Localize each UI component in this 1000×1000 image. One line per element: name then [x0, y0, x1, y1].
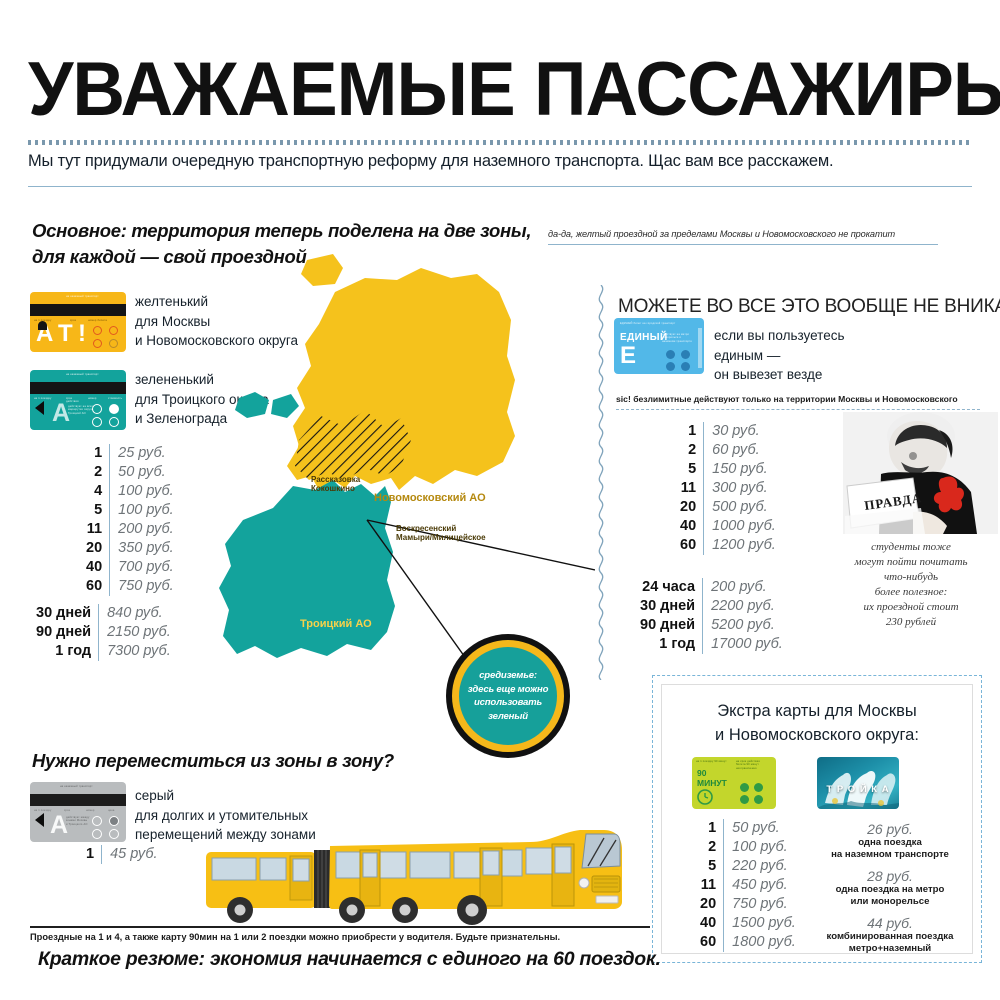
qty: 2 [700, 838, 724, 857]
table-row: 90 дней5200 руб. [640, 616, 783, 635]
card-90-price-table: 150 руб. 2100 руб. 5220 руб. 11450 руб. … [700, 819, 796, 952]
table-row: 601200 руб. [680, 536, 776, 555]
table-row: 20350 руб. [86, 539, 174, 558]
table-row: 125 руб. [86, 444, 174, 463]
gray-card-name: серый [135, 786, 316, 806]
troika-card-title: Т Р О Й К А [817, 784, 899, 795]
price: 1200 руб. [704, 536, 776, 555]
gray-pass-card: на наземный транспорт на 1 поездку срок … [30, 782, 126, 842]
qty: 1 [86, 444, 110, 463]
map-label-small-2: Кокошкино [311, 484, 355, 493]
card-90-num: 90 [697, 768, 706, 778]
map-label-troitsky: Троицкий АО [300, 618, 372, 630]
map-islet-green-2 [271, 394, 299, 418]
price: 1000 руб. [704, 517, 776, 536]
lenin-photo: ПРАВДА [843, 412, 998, 534]
troika-price-list: 26 руб. одна поездка на наземном транспо… [804, 821, 976, 955]
price: 500 руб. [704, 498, 776, 517]
price: 2150 руб. [99, 623, 171, 642]
articulated-bus-illustration [200, 806, 650, 931]
table-row: 40700 руб. [86, 558, 174, 577]
intro-note: да-да, желтый проездной за пределами Мос… [548, 229, 895, 239]
ediny-card: ЕДИНЫЙ билет на городской транспорт ЕДИН… [614, 318, 704, 374]
price: 30 руб. [704, 422, 776, 441]
map-islet-green-1 [235, 392, 269, 418]
table-row: 150 руб. [700, 819, 796, 838]
footer-rule [30, 926, 650, 928]
wavy-divider [594, 285, 608, 680]
ediny-price-table: 130 руб. 260 руб. 5150 руб. 11300 руб. 2… [680, 422, 776, 555]
table-row: 5150 руб. [680, 460, 776, 479]
troika-desc-l1: комбинированная поездка [804, 931, 976, 943]
qty: 40 [680, 517, 704, 536]
ediny-desc-line1: если вы пользуетесь [714, 326, 845, 346]
table-row: 2100 руб. [700, 838, 796, 857]
qty: 1 [86, 845, 102, 864]
troika-desc-l1: одна поездка [804, 837, 976, 849]
table-row: 60750 руб. [86, 577, 174, 596]
table-row: 90 дней2150 руб. [36, 623, 171, 642]
page-subtitle: Мы тут придумали очередную транспортную … [28, 152, 978, 171]
table-row: 1 45 руб. [86, 845, 158, 864]
price: 1800 руб. [724, 933, 796, 952]
table-row: 401000 руб. [680, 517, 776, 536]
price: 200 руб. [703, 578, 783, 597]
price: 750 руб. [110, 577, 174, 596]
price: 7300 руб. [99, 642, 171, 661]
qty: 11 [680, 479, 704, 498]
gray-price-table: 1 45 руб. [86, 845, 158, 864]
extra-heading-line1: Экстра карты для Москвы [662, 699, 972, 723]
table-row: 601800 руб. [700, 933, 796, 952]
gray-section-lead: Нужно переместиться из зоны в зону? [32, 748, 394, 774]
price: 350 руб. [110, 539, 174, 558]
price: 17000 руб. [703, 635, 783, 654]
troika-desc-l2: на наземном транспорте [804, 849, 976, 861]
left-price-table: 125 руб. 250 руб. 4100 руб. 5100 руб. 11… [86, 444, 174, 596]
right-section-heading: МОЖЕТЕ ВО ВСЕ ЭТО ВООБЩЕ НЕ ВНИКАТЬ, [618, 296, 1000, 318]
table-row: 401500 руб. [700, 914, 796, 933]
qty: 30 дней [36, 604, 99, 623]
price: 50 руб. [110, 463, 174, 482]
price: 100 руб. [110, 501, 174, 520]
qty: 5 [680, 460, 704, 479]
qty: 1 [700, 819, 724, 838]
green-pass-card: на наземный транспорт на 1 поездку срокд… [30, 370, 126, 430]
qty: 40 [86, 558, 110, 577]
troika-item: 28 руб. одна поездка на метро или моноре… [804, 868, 976, 908]
qty: 5 [86, 501, 110, 520]
table-row: 11450 руб. [700, 876, 796, 895]
title-dotted-divider [28, 140, 972, 145]
footer-note: Проездные на 1 и 4, а также карту 90мин … [30, 932, 650, 942]
price: 100 руб. [110, 482, 174, 501]
moscow-zone-map [215, 240, 595, 700]
map-zone-troitsky [219, 480, 395, 658]
ediny-sic-note: sic! безлимитные действуют только на тер… [616, 394, 986, 404]
ediny-period-table: 24 часа200 руб. 30 дней2200 руб. 90 дней… [640, 578, 783, 654]
handwritten-students-note: студенты тоже могут пойти почитать что-н… [826, 540, 996, 630]
price: 25 руб. [110, 444, 174, 463]
troika-desc-l2: или монорельсе [804, 896, 976, 908]
qty: 11 [86, 520, 110, 539]
troika-desc-l2: метро+наземный [804, 943, 976, 955]
troika-price: 28 руб. [804, 868, 976, 884]
table-row: 20750 руб. [700, 895, 796, 914]
qty: 90 дней [640, 616, 703, 635]
map-callout-text: средиземье: здесь еще можно использовать… [468, 669, 548, 723]
map-label-small-4: Мамыри/Милицейское [396, 533, 486, 542]
troika-price: 26 руб. [804, 821, 976, 837]
troika-item: 44 руб. комбинированная поездка метро+на… [804, 915, 976, 955]
price: 300 руб. [704, 479, 776, 498]
qty: 2 [86, 463, 110, 482]
price: 1500 руб. [724, 914, 796, 933]
map-label-small-3: Воскресенский [396, 524, 456, 533]
map-label-novomoskovsky: Новомосковский АО [374, 492, 486, 504]
qty: 60 [86, 577, 110, 596]
table-row: 130 руб. [680, 422, 776, 441]
price: 700 руб. [110, 558, 174, 577]
table-row: 250 руб. [86, 463, 174, 482]
qty: 1 [680, 422, 704, 441]
qty: 1 год [36, 642, 99, 661]
price: 5200 руб. [703, 616, 783, 635]
sic-rule [616, 409, 980, 410]
extra-heading-line2: и Новомосковского округа: [662, 723, 972, 747]
infographic-page: УВАЖАЕМЫЕ ПАССАЖИРЫ! Мы тут придумали оч… [0, 0, 1000, 1000]
map-islet-north [301, 254, 343, 286]
ediny-desc-line3: он вывезет везде [714, 365, 845, 385]
qty: 20 [680, 498, 704, 517]
price: 150 руб. [704, 460, 776, 479]
price: 200 руб. [110, 520, 174, 539]
price: 840 руб. [99, 604, 171, 623]
table-row: 30 дней840 руб. [36, 604, 171, 623]
qty: 4 [86, 482, 110, 501]
troika-desc-l1: одна поездка на метро [804, 884, 976, 896]
qty: 20 [700, 895, 724, 914]
extra-cards-heading: Экстра карты для Москвы и Новомосковског… [662, 699, 972, 747]
table-row: 11300 руб. [680, 479, 776, 498]
map-label-small-1: Рассказовка [311, 475, 360, 484]
qty: 60 [700, 933, 724, 952]
table-row: 4100 руб. [86, 482, 174, 501]
qty: 24 часа [640, 578, 703, 597]
table-row: 260 руб. [680, 441, 776, 460]
price: 2200 руб. [703, 597, 783, 616]
troika-horses-art [817, 757, 899, 809]
price: 45 руб. [102, 845, 158, 864]
intro-note-rule [548, 244, 938, 245]
price: 50 руб. [724, 819, 796, 838]
qty: 1 год [640, 635, 703, 654]
table-row: 24 часа200 руб. [640, 578, 783, 597]
qty: 60 [680, 536, 704, 555]
page-title: УВАЖАЕМЫЕ ПАССАЖИРЫ! [28, 52, 940, 128]
ediny-card-letter: Е [620, 344, 636, 368]
qty: 30 дней [640, 597, 703, 616]
header-rule [28, 186, 972, 187]
qty: 11 [700, 876, 724, 895]
table-row: 1 год7300 руб. [36, 642, 171, 661]
ediny-desc-line2: единым — [714, 346, 845, 366]
yellow-pass-card: на наземный транспорт на 1 поездку срок … [30, 292, 126, 352]
card-90-minutes: на 1 поездку 90 минут на срок действияби… [692, 757, 776, 809]
table-row: 5100 руб. [86, 501, 174, 520]
price: 450 руб. [724, 876, 796, 895]
extra-cards-box: Экстра карты для Москвы и Новомосковског… [652, 675, 982, 963]
card-troika: Т Р О Й К А [817, 757, 899, 809]
ediny-description: если вы пользуетесь единым — он вывезет … [714, 326, 845, 385]
table-row: 30 дней2200 руб. [640, 597, 783, 616]
table-row: 11200 руб. [86, 520, 174, 539]
left-period-table: 30 дней840 руб. 90 дней2150 руб. 1 год73… [36, 604, 171, 661]
card-90-word: МИНУТ [697, 778, 727, 788]
qty: 5 [700, 857, 724, 876]
table-row: 1 год17000 руб. [640, 635, 783, 654]
qty: 40 [700, 914, 724, 933]
qty: 20 [86, 539, 110, 558]
price: 100 руб. [724, 838, 796, 857]
price: 220 руб. [724, 857, 796, 876]
clock-icon [697, 789, 713, 805]
table-row: 20500 руб. [680, 498, 776, 517]
troika-item: 26 руб. одна поездка на наземном транспо… [804, 821, 976, 861]
qty: 90 дней [36, 623, 99, 642]
table-row: 5220 руб. [700, 857, 796, 876]
price: 750 руб. [724, 895, 796, 914]
qty: 2 [680, 441, 704, 460]
footer-resume: Краткое резюме: экономия начинается с ед… [38, 948, 661, 971]
troika-price: 44 руб. [804, 915, 976, 931]
map-callout-sredizemye: средиземье: здесь еще можно использовать… [452, 640, 564, 752]
price: 60 руб. [704, 441, 776, 460]
